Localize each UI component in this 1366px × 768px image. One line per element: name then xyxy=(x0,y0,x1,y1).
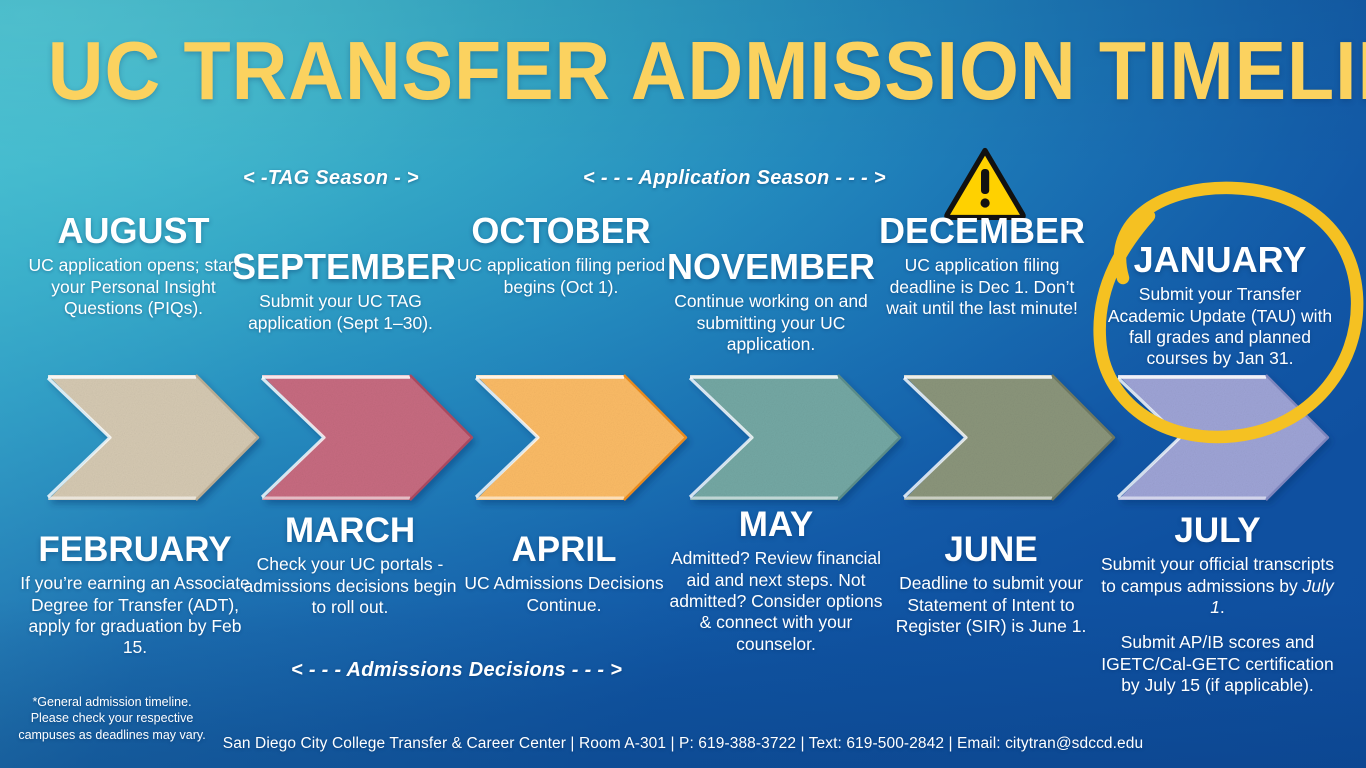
month-block-november: NOVEMBER Continue working on and submitt… xyxy=(662,248,880,355)
month-name-june: JUNE xyxy=(880,532,1102,568)
month-text-march: Check your UC portals - admissions decis… xyxy=(240,554,460,618)
month-block-march: MARCH Check your UC portals - admissions… xyxy=(240,513,460,618)
contact-footer: San Diego City College Transfer & Career… xyxy=(0,735,1366,753)
month-name-december: DECEMBER xyxy=(872,212,1092,249)
month-name-august: AUGUST xyxy=(22,212,245,249)
month-text-july-line2: Submit AP/IB scores and IGETC/Cal-GETC c… xyxy=(1095,632,1340,696)
month-block-july: JULY Submit your official transcripts to… xyxy=(1095,513,1340,696)
month-text-august: UC application opens; start your Persona… xyxy=(22,255,245,319)
month-name-january: JANUARY xyxy=(1100,241,1340,278)
page-title: UC TRANSFER ADMISSION TIMELINE xyxy=(48,28,1318,114)
chevron-december xyxy=(904,375,1114,500)
chevron-august xyxy=(48,375,258,500)
month-block-august: AUGUST UC application opens; start your … xyxy=(22,212,245,319)
month-text-july-line1: Submit your official transcripts to camp… xyxy=(1095,554,1340,618)
month-name-november: NOVEMBER xyxy=(662,248,880,285)
month-name-march: MARCH xyxy=(240,513,460,549)
month-block-april: APRIL UC Admissions Decisions Continue. xyxy=(455,532,673,616)
month-name-october: OCTOBER xyxy=(452,212,670,249)
month-text-april: UC Admissions Decisions Continue. xyxy=(455,573,673,616)
month-text-november: Continue working on and submitting your … xyxy=(662,291,880,355)
month-block-december: DECEMBER UC application filing deadline … xyxy=(872,212,1092,319)
month-text-october: UC application filing period begins (Oct… xyxy=(452,255,670,298)
month-name-april: APRIL xyxy=(455,532,673,568)
season-label-admissions: < - - - Admissions Decisions - - - > xyxy=(291,659,622,682)
month-name-september: SEPTEMBER xyxy=(232,248,449,285)
season-label-application: < - - - Application Season - - - > xyxy=(583,167,886,190)
month-text-february: If you’re earning an Associate Degree fo… xyxy=(20,573,250,658)
month-text-september: Submit your UC TAG application (Sept 1–3… xyxy=(232,291,449,334)
month-block-october: OCTOBER UC application filing period beg… xyxy=(452,212,670,298)
chevron-september xyxy=(262,375,472,500)
july-line1-pre: Submit your official transcripts to camp… xyxy=(1101,554,1334,595)
warning-triangle-icon xyxy=(944,146,1026,220)
month-block-february: FEBRUARY If you’re earning an Associate … xyxy=(20,532,250,659)
month-block-september: SEPTEMBER Submit your UC TAG application… xyxy=(232,248,449,334)
month-name-july: JULY xyxy=(1095,513,1340,549)
month-text-january: Submit your Transfer Academic Update (TA… xyxy=(1100,284,1340,369)
month-name-may: MAY xyxy=(665,507,887,543)
month-name-february: FEBRUARY xyxy=(20,532,250,568)
month-block-june: JUNE Deadline to submit your Statement o… xyxy=(880,532,1102,637)
chevron-october xyxy=(476,375,686,500)
season-label-tag: < -TAG Season - > xyxy=(243,167,419,190)
chevron-november xyxy=(690,375,900,500)
month-text-june: Deadline to submit your Statement of Int… xyxy=(880,573,1102,637)
month-text-may: Admitted? Review financial aid and next … xyxy=(665,548,887,655)
infographic-canvas: UC TRANSFER ADMISSION TIMELINE < -TAG Se… xyxy=(0,0,1366,768)
month-text-december: UC application filing deadline is Dec 1.… xyxy=(872,255,1092,319)
month-block-may: MAY Admitted? Review financial aid and n… xyxy=(665,507,887,655)
month-block-january: JANUARY Submit your Transfer Academic Up… xyxy=(1100,241,1340,370)
july-line1-post: . xyxy=(1220,597,1225,617)
